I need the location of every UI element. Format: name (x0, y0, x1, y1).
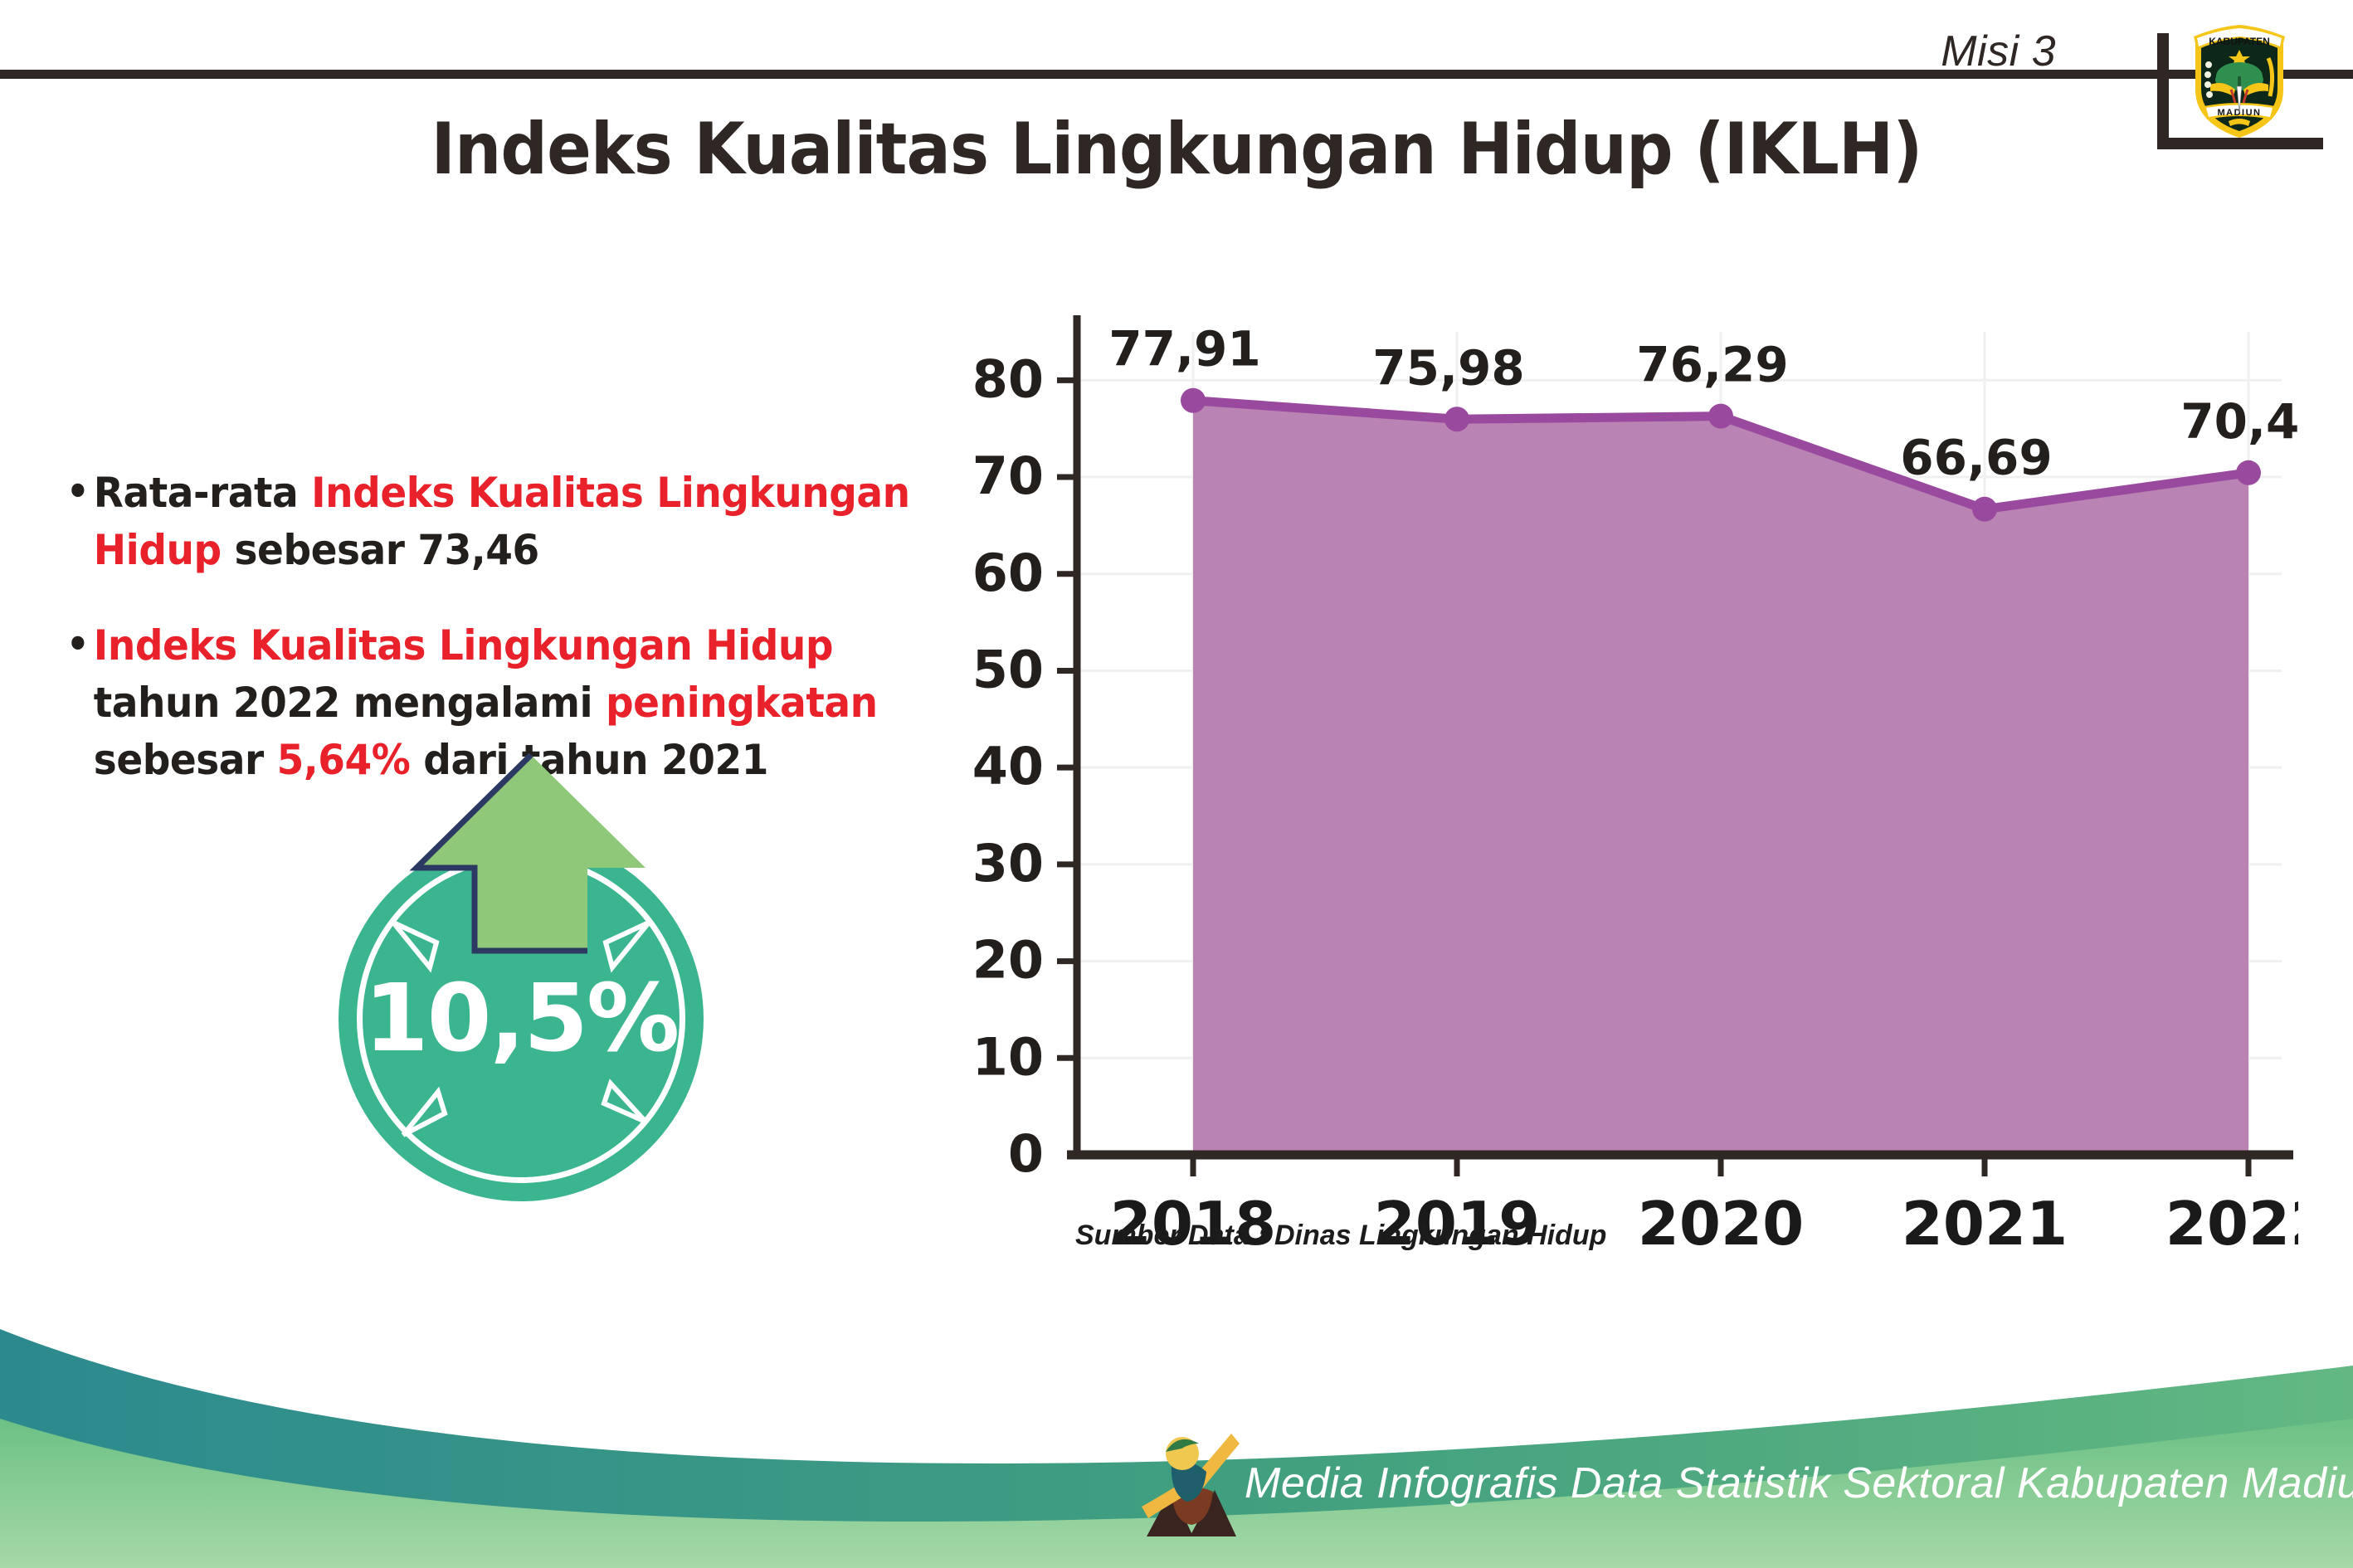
media-infografis-figure-logo (1138, 1420, 1245, 1545)
data-point-label: 75,98 (1372, 339, 1524, 396)
iklh-area-chart: 77,9175,9876,2966,6970,45010203040506070… (954, 282, 2298, 1261)
x-axis-tick-label: 2022 (2165, 1189, 2298, 1259)
plain-phrase: tahun 2022 mengalami (94, 679, 606, 727)
y-axis-tick-label: 30 (972, 833, 1044, 894)
y-axis-tick-label: 60 (972, 543, 1044, 603)
y-axis-tick-label: 50 (972, 639, 1044, 699)
plain-phrase: sebesar (94, 736, 277, 784)
data-point-marker (2236, 460, 2261, 485)
plain-phrase: Rata-rata (94, 469, 311, 517)
x-axis-tick-label: 2021 (1902, 1189, 2068, 1259)
y-axis-tick-label: 80 (972, 348, 1044, 409)
data-point-label: 70,45 (2180, 393, 2298, 450)
data-point-marker (1708, 404, 1733, 429)
infographic-slide: Misi 3 KABUPATEN MADIUN (0, 0, 2353, 1568)
increase-badge: 10,5% (314, 747, 745, 1220)
data-point-label: 66,69 (1900, 430, 2052, 486)
y-axis-tick-label: 10 (972, 1026, 1044, 1087)
y-axis-tick-label: 20 (972, 930, 1044, 991)
plain-phrase: sebesar 73,46 (222, 526, 539, 574)
data-point-marker (1972, 497, 1997, 522)
data-point-marker (1181, 388, 1206, 413)
emblem-top-banner-text: KABUPATEN (2209, 36, 2270, 47)
highlighted-phrase: Indeks Kualitas Lingkungan Hidup (94, 621, 833, 670)
y-axis-tick-label: 40 (972, 736, 1044, 796)
badge-value: 10,5% (339, 836, 704, 1201)
y-axis-tick-label: 70 (972, 446, 1044, 506)
data-point-label: 76,29 (1636, 337, 1788, 393)
bullet-text-0: Rata-rata Indeks Kualitas Lingkungan Hid… (94, 465, 940, 579)
footer: Media Infografis Data Statistik Sektoral… (0, 1294, 2353, 1568)
y-axis-tick-label: 0 (1008, 1123, 1044, 1184)
data-point-marker (1444, 407, 1469, 431)
bullet-dot-icon: • (66, 617, 89, 671)
page-title: Indeks Kualitas Lingkungan Hidup (IKLH) (94, 108, 2258, 191)
data-point-label: 77,91 (1108, 321, 1260, 377)
chart-canvas: 77,9175,9876,2966,6970,45010203040506070… (954, 282, 2298, 1261)
footer-caption: Media Infografis Data Statistik Sektoral… (1245, 1458, 2353, 1508)
chart-area-fill (1193, 401, 2248, 1155)
x-axis-tick-label: 2020 (1638, 1189, 1804, 1259)
misi-label: Misi 3 (1941, 27, 2056, 76)
bullet-dot-icon: • (66, 465, 89, 519)
highlighted-phrase: peningkatan (606, 679, 878, 727)
list-item: • Rata-rata Indeks Kualitas Lingkungan H… (66, 465, 940, 579)
chart-source-caption: Sumber Data : Dinas Lingkungan Hidup (1075, 1220, 1606, 1252)
